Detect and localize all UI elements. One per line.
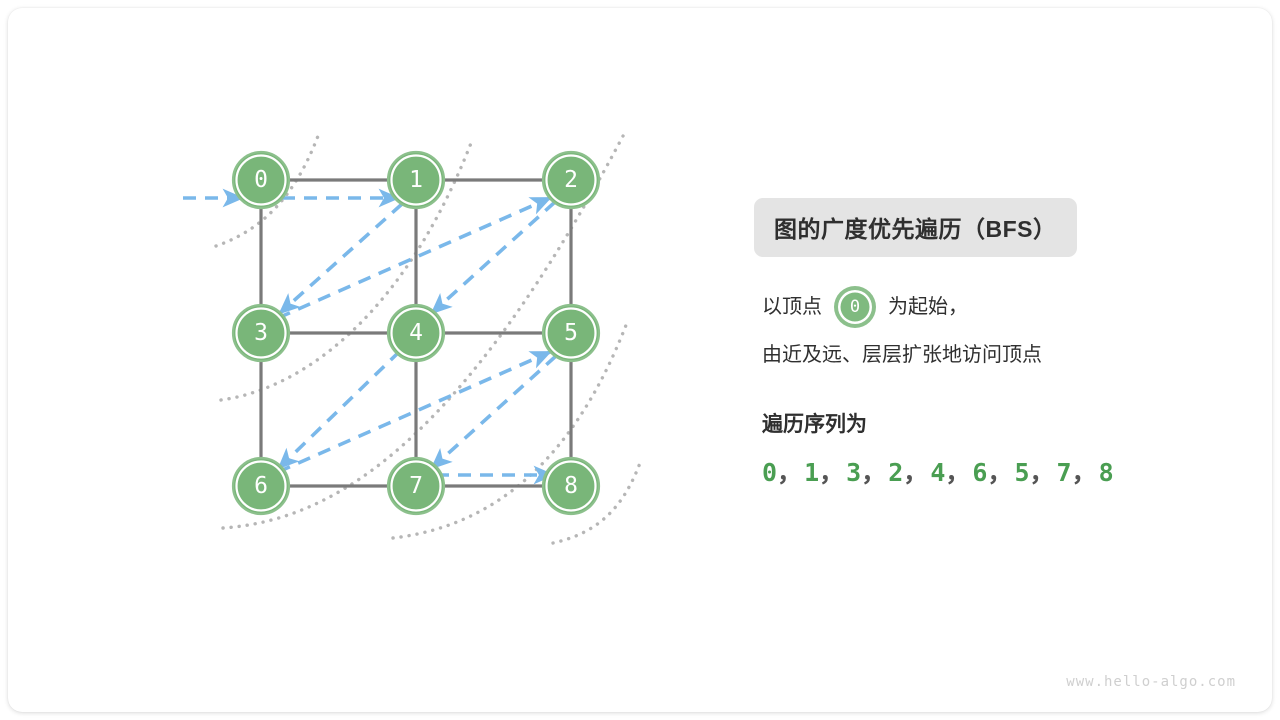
graph-node-0-label: 0 bbox=[254, 167, 268, 193]
sequence-item: 1 bbox=[804, 458, 819, 487]
slide-card: 0 1 2 3 bbox=[8, 8, 1272, 712]
description-prefix: 以顶点 bbox=[762, 283, 822, 331]
bfs-arrow-3-2 bbox=[278, 198, 550, 318]
sequence-separator: ， bbox=[903, 458, 928, 487]
graph-diagram-panel: 0 1 2 3 bbox=[8, 8, 708, 712]
footer-url: www.hello-algo.com bbox=[1066, 674, 1236, 690]
sequence-item: 4 bbox=[930, 458, 945, 487]
info-panel: 图的广度优先遍历（BFS） 以顶点 0 为起始， 由近及远、层层扩张地访问顶点 … bbox=[750, 8, 1270, 712]
description-line-1: 以顶点 0 为起始， bbox=[762, 283, 1222, 331]
graph-node-3-label: 3 bbox=[254, 320, 268, 346]
sequence-separator: ， bbox=[861, 458, 886, 487]
sequence-separator: ， bbox=[1030, 458, 1055, 487]
sequence-separator: ， bbox=[1072, 458, 1097, 487]
sequence-separator: ， bbox=[987, 458, 1012, 487]
sequence-item: 2 bbox=[888, 458, 903, 487]
graph-node-6-label: 6 bbox=[254, 473, 268, 499]
sequence-separator: ， bbox=[777, 458, 802, 487]
graph-node-2-label: 2 bbox=[564, 167, 578, 193]
sequence-separator: ， bbox=[945, 458, 970, 487]
description-suffix: 为起始， bbox=[888, 283, 968, 331]
graph-node-8-label: 8 bbox=[564, 473, 578, 499]
graph-node-2[interactable]: 2 bbox=[543, 152, 599, 208]
bfs-arrow-2-4 bbox=[432, 202, 555, 313]
graph-node-7[interactable]: 7 bbox=[388, 458, 444, 514]
graph-node-3[interactable]: 3 bbox=[233, 305, 289, 361]
page-title: 图的广度优先遍历（BFS） bbox=[754, 198, 1077, 257]
graph-node-1[interactable]: 1 bbox=[388, 152, 444, 208]
graph-node-4[interactable]: 4 bbox=[388, 305, 444, 361]
sequence-item: 8 bbox=[1099, 458, 1114, 487]
start-vertex-badge: 0 bbox=[838, 290, 872, 324]
bfs-arrow-1-3 bbox=[280, 204, 402, 313]
bfs-graph-svg: 0 1 2 3 bbox=[8, 8, 708, 712]
description-line-2: 由近及远、层层扩张地访问顶点 bbox=[762, 331, 1222, 379]
graph-node-6[interactable]: 6 bbox=[233, 458, 289, 514]
graph-node-0[interactable]: 0 bbox=[233, 152, 289, 208]
sequence-separator: ， bbox=[819, 458, 844, 487]
sequence-item: 7 bbox=[1057, 458, 1072, 487]
sequence-heading: 遍历序列为 bbox=[762, 408, 867, 438]
description-block: 以顶点 0 为起始， 由近及远、层层扩张地访问顶点 bbox=[762, 283, 1222, 379]
graph-node-1-label: 1 bbox=[409, 167, 423, 193]
bfs-arrow-5-7 bbox=[432, 356, 556, 468]
graph-node-8[interactable]: 8 bbox=[543, 458, 599, 514]
bfs-arrow-6-5 bbox=[278, 352, 550, 472]
graph-node-5[interactable]: 5 bbox=[543, 305, 599, 361]
sequence-item: 3 bbox=[846, 458, 861, 487]
graph-node-5-label: 5 bbox=[564, 320, 578, 346]
sequence-item: 6 bbox=[972, 458, 987, 487]
traversal-sequence: 0，1，3，2，4，6，5，7，8 bbox=[762, 453, 1114, 489]
sequence-item: 5 bbox=[1014, 458, 1029, 487]
sequence-item: 0 bbox=[762, 458, 777, 487]
bfs-arrow-4-6 bbox=[279, 351, 400, 468]
graph-node-4-label: 4 bbox=[409, 320, 423, 346]
graph-node-7-label: 7 bbox=[409, 473, 423, 499]
